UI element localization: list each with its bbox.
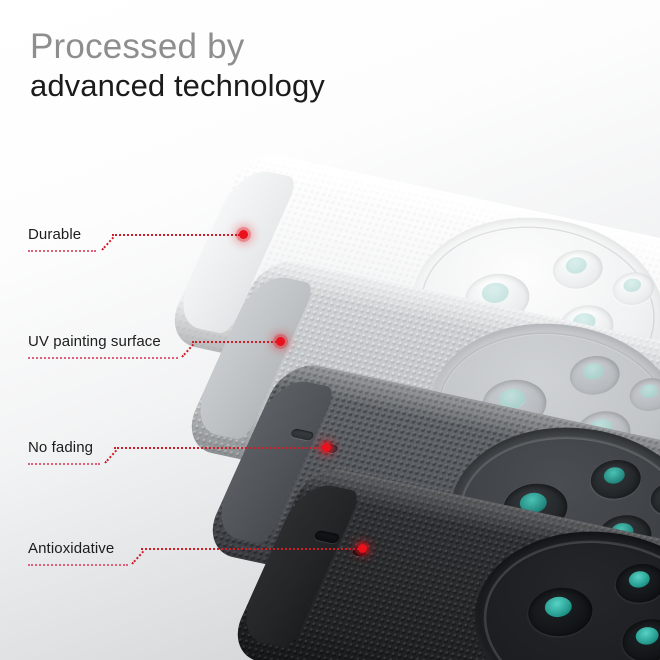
product-image-canvas: Processed by advanced technology Durable… [0, 0, 660, 660]
annotation-leader-line [114, 447, 323, 449]
annotation-label: No fading [28, 439, 93, 456]
annotation-marker-dot [358, 544, 367, 553]
annotation-marker-dot [276, 337, 285, 346]
annotation-leader-diagonal [104, 450, 117, 464]
annotation-marker-dot [322, 443, 331, 452]
annotation-label: UV painting surface [28, 333, 161, 350]
headline-line-2: advanced technology [30, 66, 325, 106]
annotation-leader-line [112, 234, 240, 236]
annotation-leader-line [141, 548, 359, 550]
annotation-underline [28, 357, 178, 359]
annotation-underline [28, 463, 100, 465]
annotation-marker-dot [239, 230, 248, 239]
annotation-underline [28, 250, 96, 252]
annotation-label: Durable [28, 226, 81, 243]
headline-line-1: Processed by [30, 28, 325, 66]
page-title: Processed by advanced technology [30, 28, 325, 106]
annotation-leader-diagonal [131, 551, 144, 565]
annotation-label: Antioxidative [28, 540, 114, 557]
annotation-leader-line [192, 341, 277, 343]
annotation-leader-diagonal [101, 237, 114, 251]
annotation-underline [28, 564, 128, 566]
